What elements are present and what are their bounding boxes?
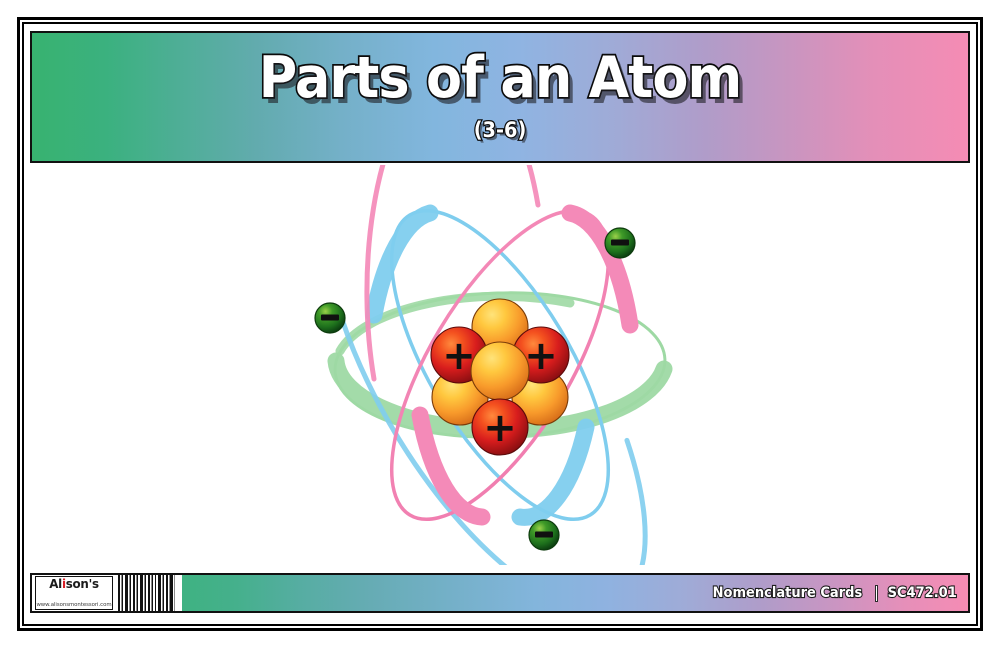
product-code: SC472.01 xyxy=(887,585,956,601)
footer-gradient-bar: Nomenclature Cards SC472.01 xyxy=(182,575,968,611)
brand-name-primary: Alison's xyxy=(38,577,110,590)
brand-logo: Alison's Montessori www.alisonsmontessor… xyxy=(32,575,116,611)
header-banner: Parts of an Atom (3-6) xyxy=(30,31,970,163)
logo-box: Alison's Montessori www.alisonsmontessor… xyxy=(35,576,113,610)
footer-bar: Alison's Montessori www.alisonsmontessor… xyxy=(30,573,970,613)
page-subtitle-age-range: (3-6) xyxy=(69,118,930,142)
electron xyxy=(605,228,635,258)
page-title: Parts of an Atom xyxy=(69,46,930,110)
svg-text:+: + xyxy=(483,405,517,451)
neutron xyxy=(471,342,529,400)
brand-name-secondary-bar: Montessori xyxy=(36,590,112,601)
proton: + xyxy=(472,399,528,455)
atom-svg: + + + xyxy=(270,165,730,565)
footer-product-info: Nomenclature Cards SC472.01 xyxy=(707,585,968,602)
illustration-area: + + + xyxy=(30,165,970,563)
barcode-svg xyxy=(116,575,182,611)
nomenclature-card: Parts of an Atom (3-6) xyxy=(0,0,1000,648)
electron xyxy=(315,303,345,333)
series-label: Nomenclature Cards xyxy=(712,585,862,601)
atom-diagram: + + + xyxy=(270,165,730,565)
barcode xyxy=(116,575,182,611)
footer-divider xyxy=(875,585,878,602)
brand-name-secondary: Montessori xyxy=(38,590,110,601)
electron xyxy=(529,520,559,550)
brand-website-url: www.alisonsmontessori.com xyxy=(36,601,112,609)
brand-accent-letter: i xyxy=(62,576,66,591)
